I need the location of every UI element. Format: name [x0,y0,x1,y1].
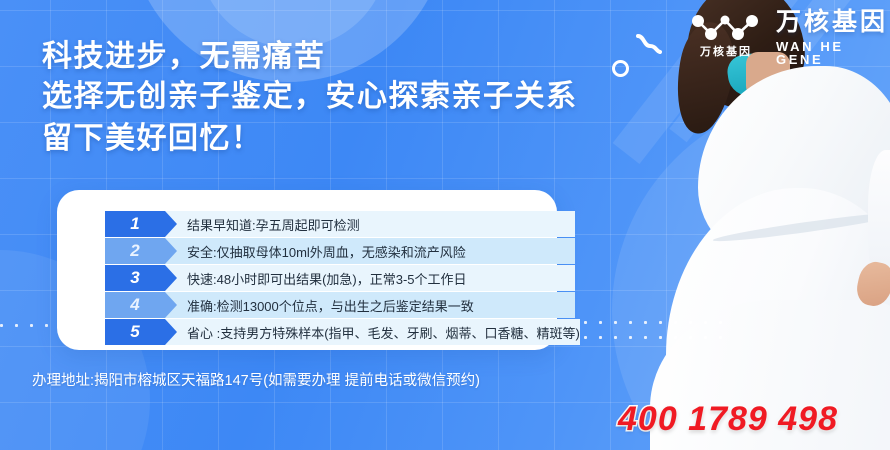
feature-text-5: 省心 :支持男方特殊样本(指甲、毛发、牙刷、烟蒂、口香糖、精斑等) [165,319,580,345]
office-address: 办理地址:揭阳市榕城区天福路147号(如需要办理 提前电话或微信预约) [32,369,480,390]
brand-name-cn: 万核基因 [776,10,890,35]
feature-badge-5: 5 [105,319,165,345]
feature-text-3: 快速:48小时即可出结果(加急)，正常3-5个工作日 [165,265,575,291]
molecule-network-icon: 万核基因 [686,13,764,63]
feature-list: 1 结果早知道:孕五周起即可检测 2 安全:仅抽取母体10ml外周血，无感染和流… [105,211,575,346]
headline-line-2: 选择无创亲子鉴定，安心探索亲子关系 [42,76,642,118]
headline-block: 科技进步，无需痛苦 选择无创亲子鉴定，安心探索亲子关系 留下美好回忆！ [42,38,642,160]
feature-number-5: 5 [130,322,139,342]
feature-row-4: 4 准确:检测13000个位点，与出生之后鉴定结果一致 [105,292,575,318]
hotline-number[interactable]: 400 1789 498 [618,400,838,439]
feature-row-3: 3 快速:48小时即可出结果(加急)，正常3-5个工作日 [105,265,575,291]
feature-text-2: 安全:仅抽取母体10ml外周血，无感染和流产风险 [165,238,575,264]
feature-row-5: 5 省心 :支持男方特殊样本(指甲、毛发、牙刷、烟蒂、口香糖、精斑等) [105,319,575,345]
feature-number-2: 2 [130,241,139,261]
feature-badge-3: 3 [105,265,165,291]
feature-number-1: 1 [130,214,139,234]
feature-text-4: 准确:检测13000个位点，与出生之后鉴定结果一致 [165,292,575,318]
feature-row-2: 2 安全:仅抽取母体10ml外周血，无感染和流产风险 [105,238,575,264]
headline-line-1: 科技进步，无需痛苦 [42,38,642,76]
feature-badge-2: 2 [105,238,165,264]
pregnant-woman-photo [620,0,890,450]
feature-text-1: 结果早知道:孕五周起即可检测 [165,211,575,237]
logo-mark-caption: 万核基因 [690,43,762,59]
feature-badge-1: 1 [105,211,165,237]
promo-banner: 万核基因 万核基因 WAN HE GENE 科技进步，无需痛苦 选择无创亲子鉴定… [0,0,890,450]
feature-row-1: 1 结果早知道:孕五周起即可检测 [105,211,575,237]
feature-number-4: 4 [130,295,139,315]
feature-number-3: 3 [130,268,139,288]
brand-name-en: WAN HE GENE [776,40,890,66]
headline-line-3: 留下美好回忆！ [42,118,642,160]
brand-logo[interactable]: 万核基因 万核基因 WAN HE GENE [686,10,890,66]
dot-grid-pattern-left [0,318,56,338]
feature-badge-4: 4 [105,292,165,318]
brand-name-block: 万核基因 WAN HE GENE [776,10,890,66]
